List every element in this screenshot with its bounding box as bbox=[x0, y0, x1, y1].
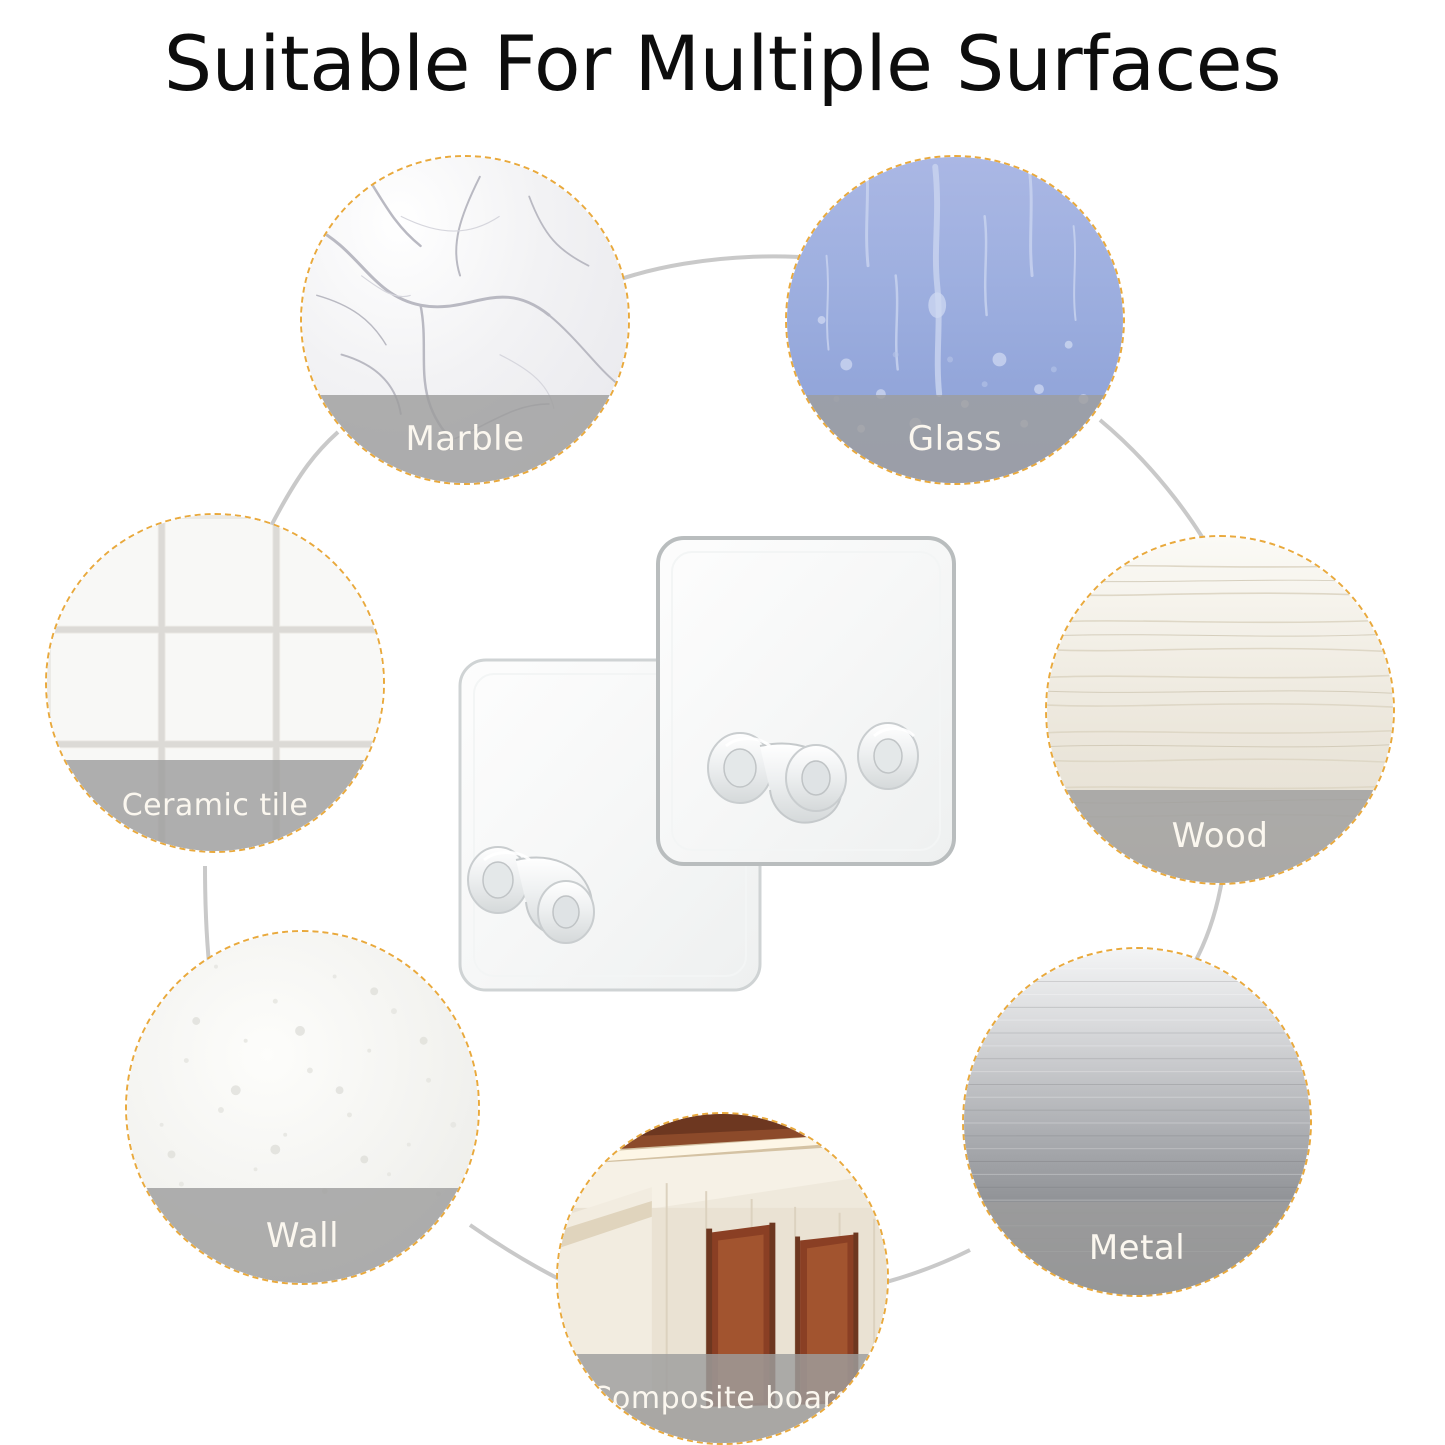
page-title: Suitable For Multiple Surfaces bbox=[0, 18, 1445, 110]
wall-caption-band: Wall bbox=[127, 1188, 478, 1283]
surface-node-ceramic-tile[interactable]: Ceramic tile bbox=[45, 513, 385, 853]
surface-label-wood: Wood bbox=[1172, 816, 1269, 856]
marble-caption-band: Marble bbox=[302, 395, 628, 483]
surface-label-metal: Metal bbox=[1089, 1228, 1185, 1268]
surface-node-composite-board[interactable]: Composite board bbox=[556, 1112, 889, 1445]
wood-caption-band: Wood bbox=[1047, 790, 1393, 883]
surface-label-wall: Wall bbox=[266, 1216, 339, 1256]
surface-node-glass[interactable]: Glass bbox=[785, 155, 1125, 485]
ceramic-tile-caption-band: Ceramic tile bbox=[47, 760, 383, 851]
surface-label-ceramic-tile: Ceramic tile bbox=[122, 788, 309, 823]
product-image-adhesive-hooks bbox=[440, 520, 1000, 1040]
surface-label-composite-board: Composite board bbox=[591, 1381, 855, 1416]
glass-caption-band: Glass bbox=[787, 395, 1123, 483]
surface-node-marble[interactable]: Marble bbox=[300, 155, 630, 485]
surface-label-marble: Marble bbox=[405, 419, 524, 459]
surface-node-wall[interactable]: Wall bbox=[125, 930, 480, 1285]
surface-node-wood[interactable]: Wood bbox=[1045, 535, 1395, 885]
surface-label-glass: Glass bbox=[908, 419, 1003, 459]
surface-node-metal[interactable]: Metal bbox=[962, 947, 1312, 1297]
composite-board-caption-band: Composite board bbox=[558, 1354, 887, 1443]
metal-caption-band: Metal bbox=[964, 1202, 1310, 1295]
